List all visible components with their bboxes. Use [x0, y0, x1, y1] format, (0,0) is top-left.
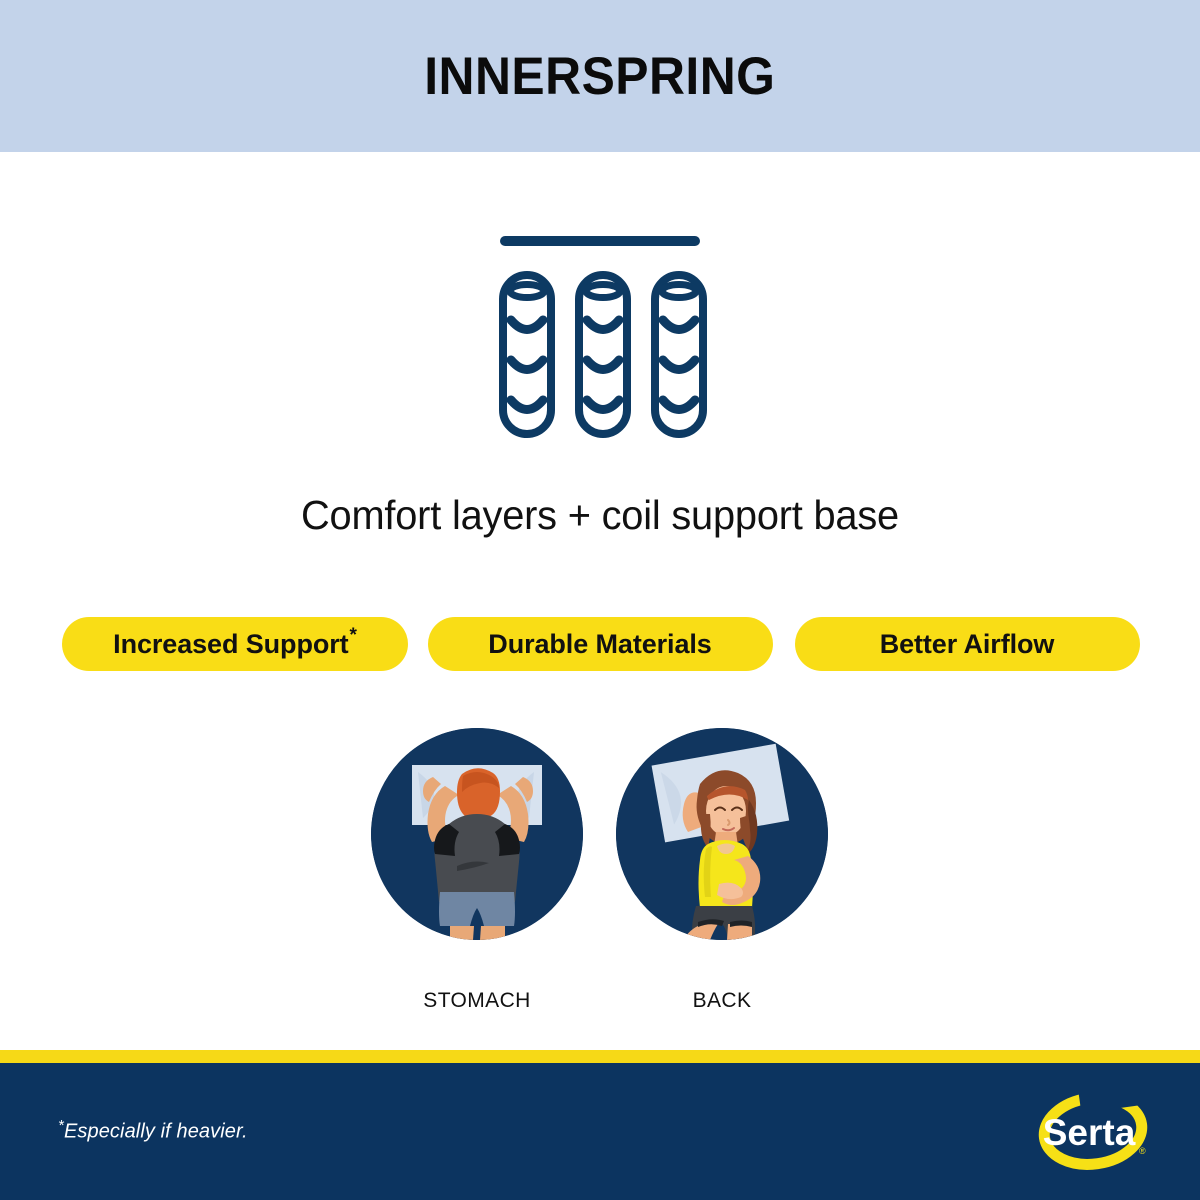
feature-pill-durable-materials: Durable Materials [428, 617, 773, 671]
sleep-position-label: BACK [616, 989, 828, 1013]
sleep-position-label: STOMACH [371, 989, 583, 1013]
back-sleeper-illustration [616, 728, 828, 940]
footnote-text: *Especially if heavier. [58, 1117, 248, 1144]
footnote-label: Especially if heavier. [64, 1121, 248, 1143]
footer-accent-rule [0, 1050, 1200, 1063]
sleep-position-stomach: STOMACH [371, 728, 583, 1013]
sleep-position-group: STOMACH [0, 728, 1200, 1018]
feature-pill-group: Increased Support* Durable Materials Bet… [0, 617, 1200, 671]
stomach-sleeper-illustration [371, 728, 583, 940]
serta-logo: Serta ® [1032, 1088, 1154, 1174]
feature-pill-increased-support: Increased Support* [62, 617, 408, 671]
feature-pill-label: Better Airflow [880, 629, 1055, 660]
header-banner: INNERSPRING [0, 0, 1200, 152]
serta-wordmark: Serta [1043, 1112, 1136, 1153]
sleep-position-back: BACK [616, 728, 828, 1013]
feature-pill-label: Increased Support [113, 629, 348, 660]
page-title: INNERSPRING [424, 46, 775, 107]
trademark-symbol: ® [1139, 1146, 1146, 1156]
footnote-marker: * [350, 626, 357, 645]
infographic-page: INNERSPRING [0, 0, 1200, 1200]
hero-subtitle: Comfort layers + coil support base [18, 492, 1182, 539]
feature-pill-label: Durable Materials [488, 629, 711, 660]
coil-stack-icon [470, 222, 730, 447]
feature-pill-better-airflow: Better Airflow [795, 617, 1140, 671]
